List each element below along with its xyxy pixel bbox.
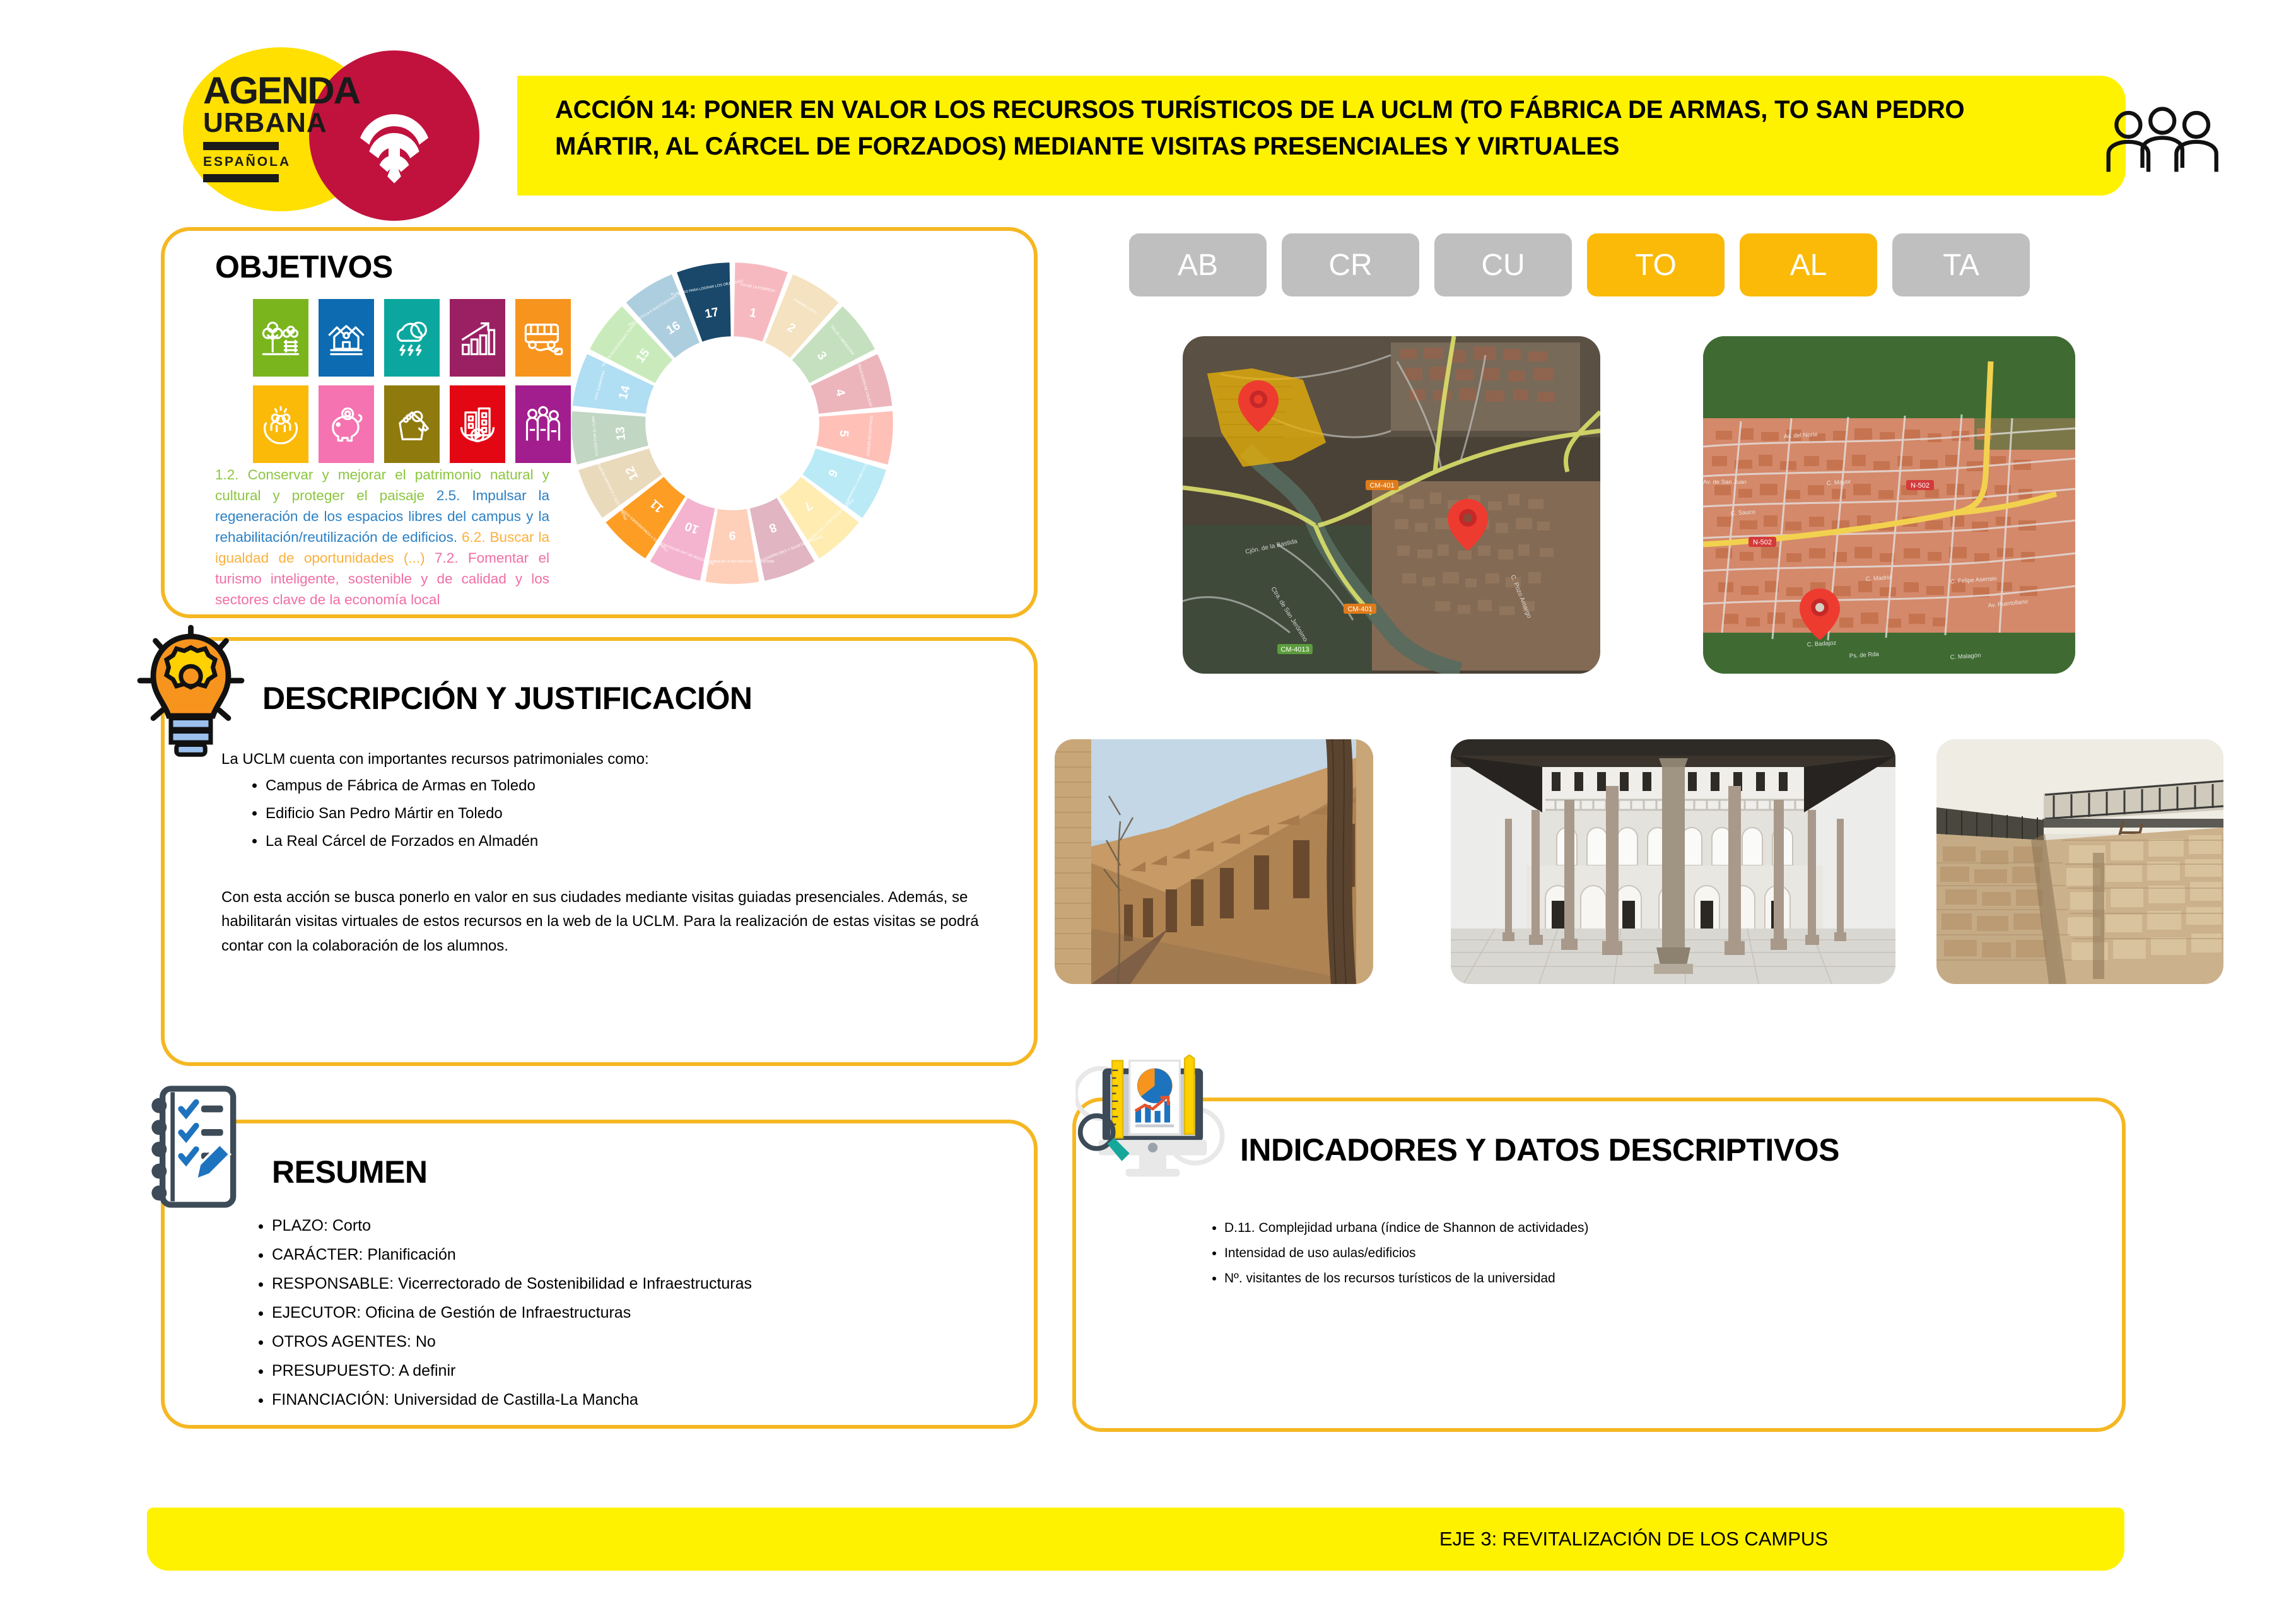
- objetivos-icon-grid: [253, 299, 575, 472]
- descripcion-paragraph: Con esta acción se busca ponerlo en valo…: [221, 886, 1004, 958]
- objetivos-panel: OBJETIVOS: [161, 227, 1038, 618]
- list-item: La Real Cárcel de Forzados en Almadén: [266, 830, 1004, 853]
- list-item: CARÁCTER: Planificación: [272, 1247, 1010, 1263]
- tab-campus-ta[interactable]: TA: [1892, 233, 2030, 296]
- logo-line-urbana: URBANA: [203, 108, 361, 138]
- sdg-number-13: 13: [613, 426, 628, 441]
- list-item: OTROS AGENTES: No: [272, 1334, 1010, 1350]
- svg-text:Av. de San Juan: Av. de San Juan: [1703, 479, 1747, 486]
- park-trees-icon: [253, 299, 308, 377]
- housing-icon: [319, 299, 374, 377]
- list-item: EJECUTOR: Oficina de Gestión de Infraest…: [272, 1305, 1010, 1321]
- urban-media-icon: [450, 385, 505, 463]
- descripcion-bullets: Campus de Fábrica de Armas en Toledo Edi…: [266, 775, 1004, 853]
- footer-text: EJE 3: REVITALIZACIÓN DE LOS CAMPUS: [1439, 1528, 2124, 1550]
- notebook-checklist-icon: [146, 1084, 241, 1210]
- footer-band: EJE 3: REVITALIZACIÓN DE LOS CAMPUS: [147, 1508, 2124, 1571]
- map-almaden: N-502 N-502 Av. del Norte C. Mayor C. Sa…: [1703, 336, 2075, 674]
- descripcion-intro: La UCLM cuenta con importantes recursos …: [221, 748, 1004, 771]
- climate-storm-icon: [384, 299, 440, 377]
- photo-san-pedro-martir: [1451, 739, 1895, 984]
- piggy-bank-icon: [319, 385, 374, 463]
- list-item: RESPONSABLE: Vicerrectorado de Sostenibi…: [272, 1276, 1010, 1292]
- resumen-panel: RESUMEN PLAZO: Corto CARÁCTER: Planifica…: [161, 1120, 1038, 1429]
- poster-page: AGENDA URBANA ESPAÑOLA ACCIÓN 14: PONER …: [0, 0, 2296, 1623]
- svg-text:CM-401: CM-401: [1347, 606, 1372, 613]
- resumen-title: RESUMEN: [272, 1154, 428, 1190]
- tab-campus-cu[interactable]: CU: [1434, 233, 1572, 296]
- list-item: Campus de Fábrica de Armas en Toledo: [266, 775, 1004, 797]
- indicadores-title: INDICADORES Y DATOS DESCRIPTIVOS: [1240, 1132, 1839, 1168]
- objetivos-icon-row-2: [253, 385, 575, 463]
- list-item: FINANCIACIÓN: Universidad de Castilla-La…: [272, 1392, 1010, 1408]
- objetivos-icon-row-1: [253, 299, 575, 377]
- tab-campus-cr[interactable]: CR: [1282, 233, 1419, 296]
- monitor-analytics-icon: [1075, 1055, 1230, 1190]
- house-keys-icon: [384, 385, 440, 463]
- tab-campus-ab[interactable]: AB: [1129, 233, 1267, 296]
- economy-growth-icon: [450, 299, 505, 377]
- descripcion-body: La UCLM cuenta con importantes recursos …: [221, 748, 1004, 958]
- sdg-number-5: 5: [836, 430, 851, 438]
- descripcion-title: DESCRIPCIÓN Y JUSTIFICACIÓN: [262, 680, 752, 717]
- logo-line-espanola: ESPAÑOLA: [203, 155, 361, 170]
- logo-bar-bottom: [203, 174, 279, 182]
- equality-people-icon: [515, 385, 571, 463]
- list-item: Intensidad de uso aulas/edificios: [1224, 1246, 2070, 1260]
- logo-line-agenda: AGENDA: [203, 73, 361, 108]
- social-care-icon: [253, 385, 308, 463]
- agenda-urbana-logo: AGENDA URBANA ESPAÑOLA: [203, 73, 361, 187]
- electric-bus-icon: [515, 299, 571, 377]
- photo-fabrica-de-armas: [1055, 739, 1373, 984]
- svg-text:N-502: N-502: [1753, 539, 1772, 546]
- sdg-number-17: 17: [704, 305, 720, 322]
- campus-tabs[interactable]: AB CR CU TO AL TA: [1129, 233, 2030, 296]
- logo-bar-top: [203, 142, 279, 150]
- photo-carcel-forzados: [1936, 739, 2223, 984]
- page-title: ACCIÓN 14: PONER EN VALOR LOS RECURSOS T…: [555, 91, 2056, 180]
- indicadores-panel: INDICADORES Y DATOS DESCRIPTIVOS D.11. C…: [1072, 1098, 2126, 1432]
- descripcion-panel: DESCRIPCIÓN Y JUSTIFICACIÓN La UCLM cuen…: [161, 637, 1038, 1066]
- tab-campus-to[interactable]: TO: [1587, 233, 1725, 296]
- svg-text:CM-4013: CM-4013: [1280, 646, 1309, 653]
- svg-text:CM-401: CM-401: [1369, 482, 1394, 489]
- lightbulb-gear-icon: [136, 621, 246, 766]
- svg-text:N-502: N-502: [1911, 482, 1930, 489]
- sdg-segment-9: [706, 509, 759, 584]
- list-item: PRESUPUESTO: A definir: [272, 1363, 1010, 1379]
- sdg-wheel: 1FIN DE LA POBREZA2HAMBRE CERO3SALUD Y B…: [568, 259, 896, 587]
- list-item: PLAZO: Corto: [272, 1218, 1010, 1234]
- sdg-number-9: 9: [729, 529, 735, 542]
- list-item: Nº. visitantes de los recursos turístico…: [1224, 1272, 2070, 1285]
- resumen-list: PLAZO: Corto CARÁCTER: Planificación RES…: [234, 1218, 1010, 1421]
- objetivos-text: 1.2. Conservar y mejorar el patrimonio n…: [215, 464, 549, 610]
- tab-campus-al[interactable]: AL: [1740, 233, 1877, 296]
- list-item: Edificio San Pedro Mártir en Toledo: [266, 802, 1004, 825]
- map-toledo: CM-401 CM-401 CM-4013 Cjón. de la Bastid…: [1183, 336, 1600, 674]
- list-item: D.11. Complejidad urbana (índice de Shan…: [1224, 1221, 2070, 1234]
- people-group-icon: [2100, 106, 2220, 182]
- indicadores-list: D.11. Complejidad urbana (índice de Shan…: [1186, 1221, 2070, 1297]
- objetivos-title: OBJETIVOS: [215, 249, 393, 285]
